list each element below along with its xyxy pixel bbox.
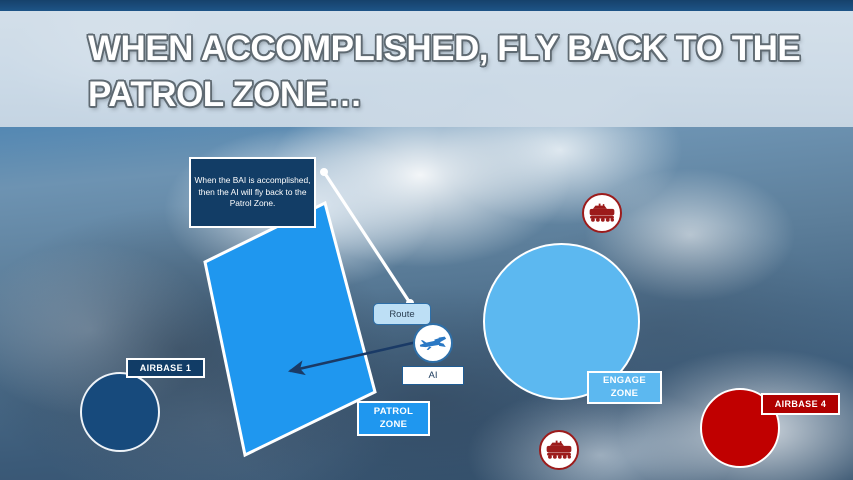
engage-zone-label[interactable]: ENGAGE ZONE xyxy=(587,371,662,404)
page-title: WHEN ACCOMPLISHED, FLY BACK TO THE PATRO… xyxy=(88,26,828,117)
ai-label[interactable]: AI xyxy=(402,366,464,385)
target-marker-2[interactable] xyxy=(539,430,579,470)
route-label[interactable]: Route xyxy=(373,303,431,325)
airbase-4-label[interactable]: AIRBASE 4 xyxy=(761,393,840,415)
slide-canvas: WHEN ACCOMPLISHED, FLY BACK TO THE PATRO… xyxy=(0,0,853,480)
callout-text: When the BAI is accomplished, then the A… xyxy=(191,175,314,211)
airbase-1-label[interactable]: AIRBASE 1 xyxy=(126,358,205,378)
aircraft-marker[interactable] xyxy=(413,323,453,363)
callout-box[interactable]: When the BAI is accomplished, then the A… xyxy=(189,157,316,228)
armored-vehicle-icon xyxy=(545,439,573,461)
fighter-jet-icon xyxy=(418,328,448,358)
top-accent-bar xyxy=(0,0,853,11)
target-marker-1[interactable] xyxy=(582,193,622,233)
airbase-1-circle[interactable] xyxy=(80,372,160,452)
patrol-zone-label[interactable]: PATROL ZONE xyxy=(357,401,430,436)
armored-vehicle-icon xyxy=(588,202,616,224)
